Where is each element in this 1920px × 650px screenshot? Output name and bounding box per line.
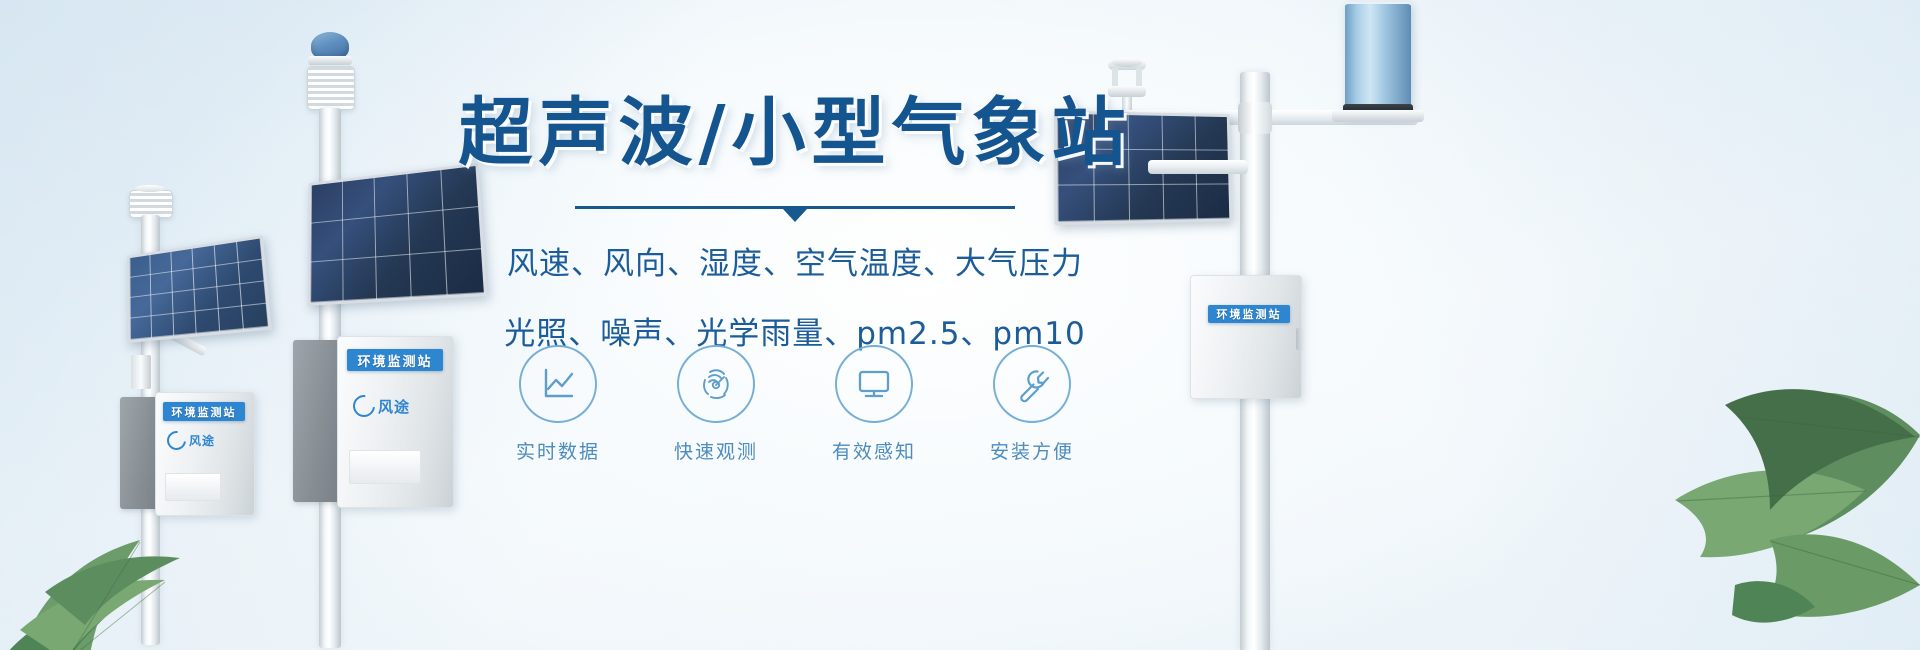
cabinet-latch-right xyxy=(1296,328,1304,350)
brand-logo-center: 风途 xyxy=(353,395,410,417)
banana-leaf-right xyxy=(1620,285,1920,650)
divider xyxy=(575,206,1015,218)
feature-item-realtime-data[interactable]: 实时数据 xyxy=(503,345,613,464)
feature-item-fast-observation[interactable]: 快速观测 xyxy=(661,345,771,464)
cabinet-tag-right: 环境监测站 xyxy=(1208,305,1290,323)
panel-arm-right xyxy=(1148,160,1248,174)
rain-gauge-right xyxy=(1345,2,1411,116)
page-title: 超声波/小型气象站 xyxy=(455,96,1135,170)
dome-base-center xyxy=(308,56,352,65)
product-banner: 环境监测站 风途 环境监测站 风途 xyxy=(0,0,1920,650)
cabinet-vent-center xyxy=(349,450,421,484)
brand-mark-icon-center xyxy=(349,391,380,422)
banner-text-block: 超声波/小型气象站 风速、风向、湿度、空气温度、大气压力 光照、噪声、光学雨量、… xyxy=(455,96,1135,359)
feature-label: 有效感知 xyxy=(819,437,929,464)
rain-gauge-mount-right xyxy=(1332,110,1424,122)
feature-label: 实时数据 xyxy=(503,437,613,464)
feature-label: 安装方便 xyxy=(977,437,1087,464)
line-chart-icon xyxy=(539,365,577,403)
brand-text-center: 风途 xyxy=(378,396,410,417)
feature-item-easy-installation[interactable]: 安装方便 xyxy=(977,345,1087,464)
cabinet-tag-center: 环境监测站 xyxy=(347,349,443,371)
feature-circle xyxy=(519,345,597,423)
feature-item-effective-sensing[interactable]: 有效感知 xyxy=(819,345,929,464)
feature-label: 快速观测 xyxy=(661,437,771,464)
shield-cap-left xyxy=(135,185,165,192)
feature-circle xyxy=(993,345,1071,423)
feature-circle xyxy=(677,345,755,423)
crossarm-joint-right xyxy=(1238,102,1272,134)
banana-leaf-left xyxy=(0,330,220,650)
radiation-shield-sensor-left xyxy=(129,190,173,218)
monitor-display-icon xyxy=(854,365,894,403)
feature-circle xyxy=(835,345,913,423)
divider-triangle-icon xyxy=(783,209,807,222)
subtitle-line-1: 风速、风向、湿度、空气温度、大气压力 xyxy=(455,240,1135,288)
feature-list: 实时数据 快速观测 xyxy=(455,345,1135,464)
wrench-tool-icon xyxy=(1012,364,1052,404)
cabinet-right xyxy=(1190,275,1302,399)
radiation-shield-sensor-center xyxy=(307,66,355,110)
radar-observation-icon xyxy=(696,364,736,404)
